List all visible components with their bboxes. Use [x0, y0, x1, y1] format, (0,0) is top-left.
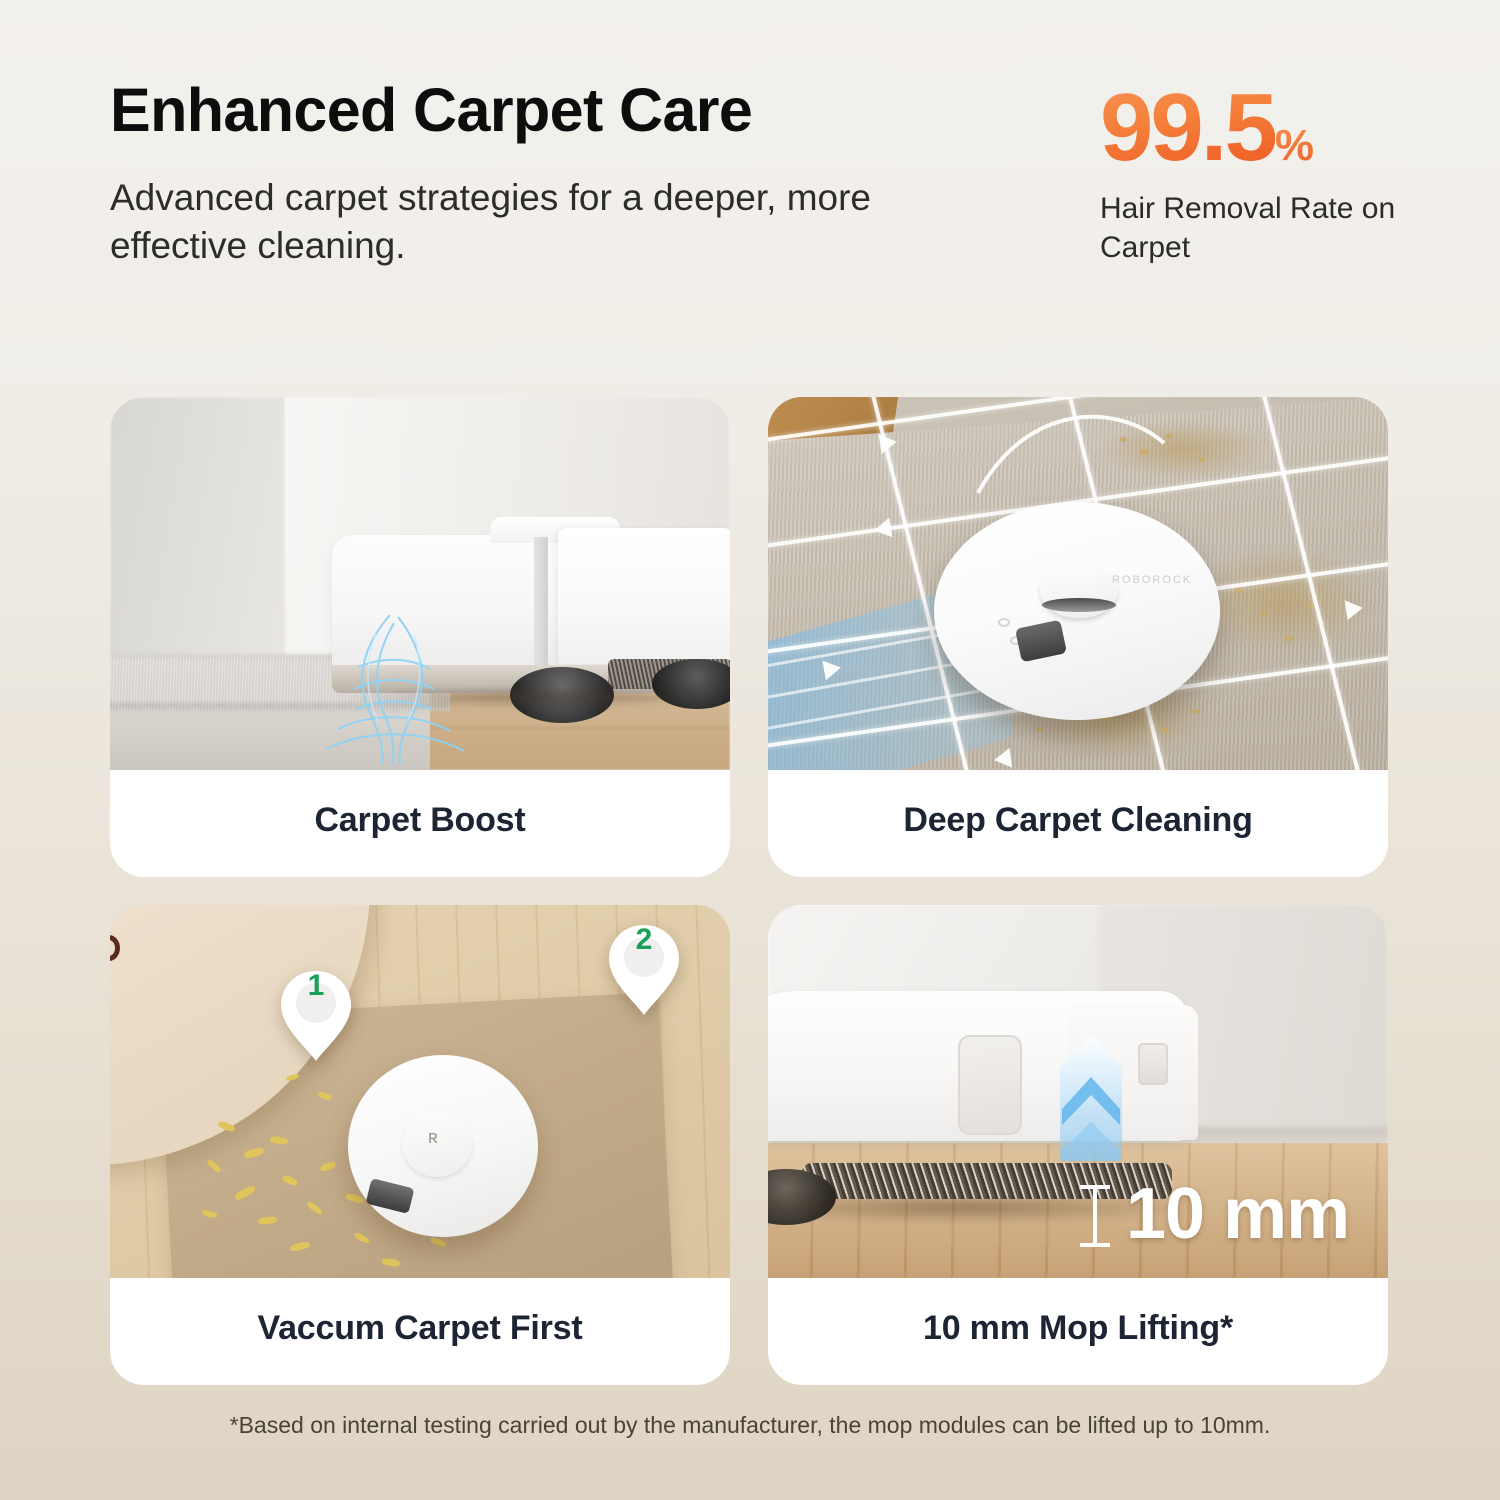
woven-basket	[110, 905, 126, 928]
path-arrow-icon	[879, 432, 899, 454]
carpet-boost-image	[110, 397, 730, 770]
feature-card-carpet-boost[interactable]: Carpet Boost	[110, 397, 730, 877]
mop-pad	[802, 1163, 1172, 1199]
lidar-gap	[1042, 598, 1116, 612]
feature-card-caption: Vaccum Carpet First	[110, 1278, 730, 1385]
header: Enhanced Carpet Care Advanced carpet str…	[110, 78, 1400, 328]
feature-card-mop-lifting[interactable]: 10 mm 10 mm Mop Lifting*	[768, 905, 1388, 1385]
feature-card-deep-carpet-cleaning[interactable]: ROBOROCK Deep Carpet Cleaning	[768, 397, 1388, 877]
robot-side-notch	[1138, 1043, 1168, 1085]
lift-up-arrow-icon	[1058, 1033, 1124, 1163]
path-arrow-icon	[872, 518, 892, 541]
map-pin-2-label: 2	[606, 923, 682, 957]
path-arrow-icon	[993, 748, 1013, 770]
path-arrow-icon	[1345, 598, 1365, 620]
mop-lift-measurement-label: 10 mm	[1126, 1173, 1349, 1255]
stat-caption: Hair Removal Rate on Carpet	[1100, 189, 1400, 267]
robot-seam	[534, 537, 548, 665]
robot-vacuum-on-rug: ʀ	[348, 1055, 538, 1237]
vaccum-carpet-first-image: ʀ 1 2	[110, 905, 730, 1278]
feature-card-caption: Carpet Boost	[110, 770, 730, 877]
map-pin-1-label: 1	[278, 969, 354, 1003]
wall-left	[110, 397, 285, 665]
stat-block: 99.5% Hair Removal Rate on Carpet	[1100, 82, 1400, 267]
suction-arrow-icon	[822, 658, 842, 681]
feature-card-caption: Deep Carpet Cleaning	[768, 770, 1388, 877]
robot-bumper-sensor	[1015, 620, 1067, 663]
robot-vacuum-top-view: ROBOROCK	[934, 502, 1220, 720]
path-curve	[968, 397, 1168, 517]
feature-card-vaccum-carpet-first[interactable]: ʀ 1 2 Vaccum Carpet First	[110, 905, 730, 1385]
deep-carpet-cleaning-image: ROBOROCK	[768, 397, 1388, 770]
robot-side-panel	[958, 1035, 1022, 1135]
feature-card-caption: 10 mm Mop Lifting*	[768, 1278, 1388, 1385]
page-subtitle: Advanced carpet strategies for a deeper,…	[110, 174, 1010, 270]
stat-value-row: 99.5%	[1100, 82, 1400, 173]
robot-right-module	[558, 528, 730, 664]
robot-brand-mark: ROBOROCK	[1112, 574, 1192, 586]
stat-unit: %	[1275, 121, 1313, 171]
suction-swirl-icon	[298, 609, 488, 769]
mop-lifting-image: 10 mm	[768, 905, 1388, 1278]
measure-bar-icon	[1076, 1183, 1114, 1249]
stat-value: 99.5	[1100, 82, 1275, 173]
footnote: *Based on internal testing carried out b…	[0, 1412, 1500, 1439]
cup-handle	[110, 935, 120, 961]
robot-brand-mark: ʀ	[428, 1127, 438, 1148]
